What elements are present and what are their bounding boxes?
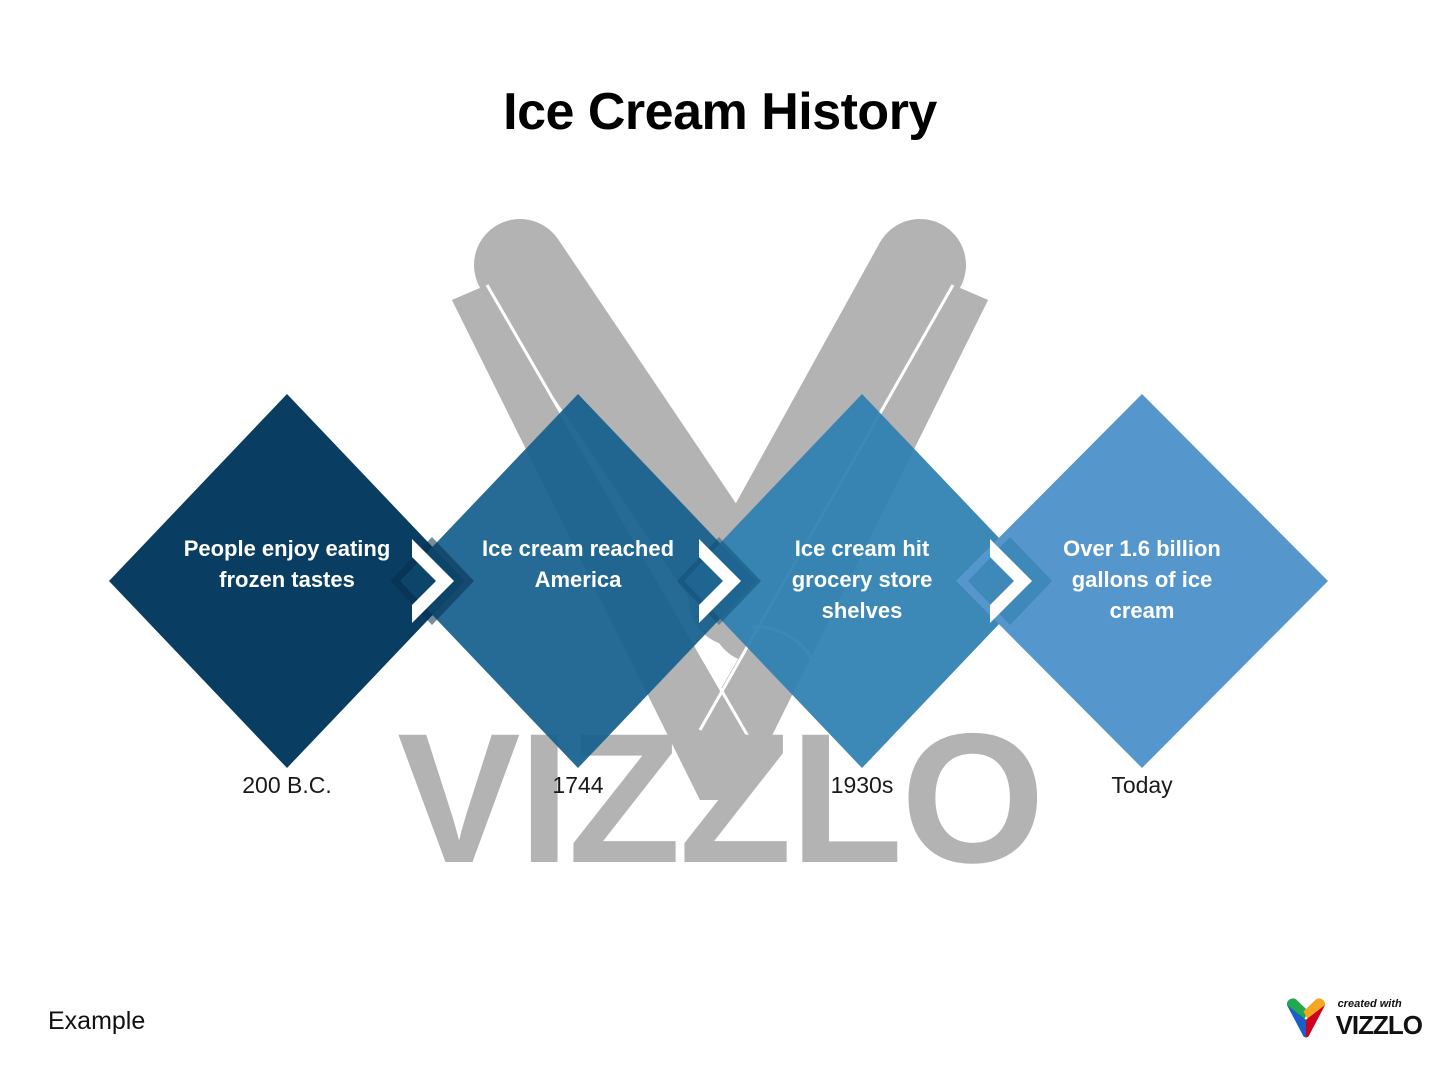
slide-canvas: VIZZLO Ice Cream History — [0, 0, 1440, 1080]
step-4-label: Today — [1022, 772, 1262, 799]
brand-tagline: created with — [1338, 999, 1422, 1010]
step-3-label: 1930s — [742, 772, 982, 799]
vizzlo-brand-logo[interactable]: created with VIZZLO — [1284, 998, 1422, 1038]
brand-name: VIZZLO — [1336, 1012, 1422, 1038]
step-1-label: 200 B.C. — [167, 772, 407, 799]
timeline-diamonds — [0, 0, 1440, 1080]
footer-note: Example — [48, 1007, 145, 1036]
brand-text-block: created with VIZZLO — [1336, 999, 1422, 1038]
vizzlo-logo-icon — [1284, 998, 1328, 1038]
step-2-label: 1744 — [458, 772, 698, 799]
